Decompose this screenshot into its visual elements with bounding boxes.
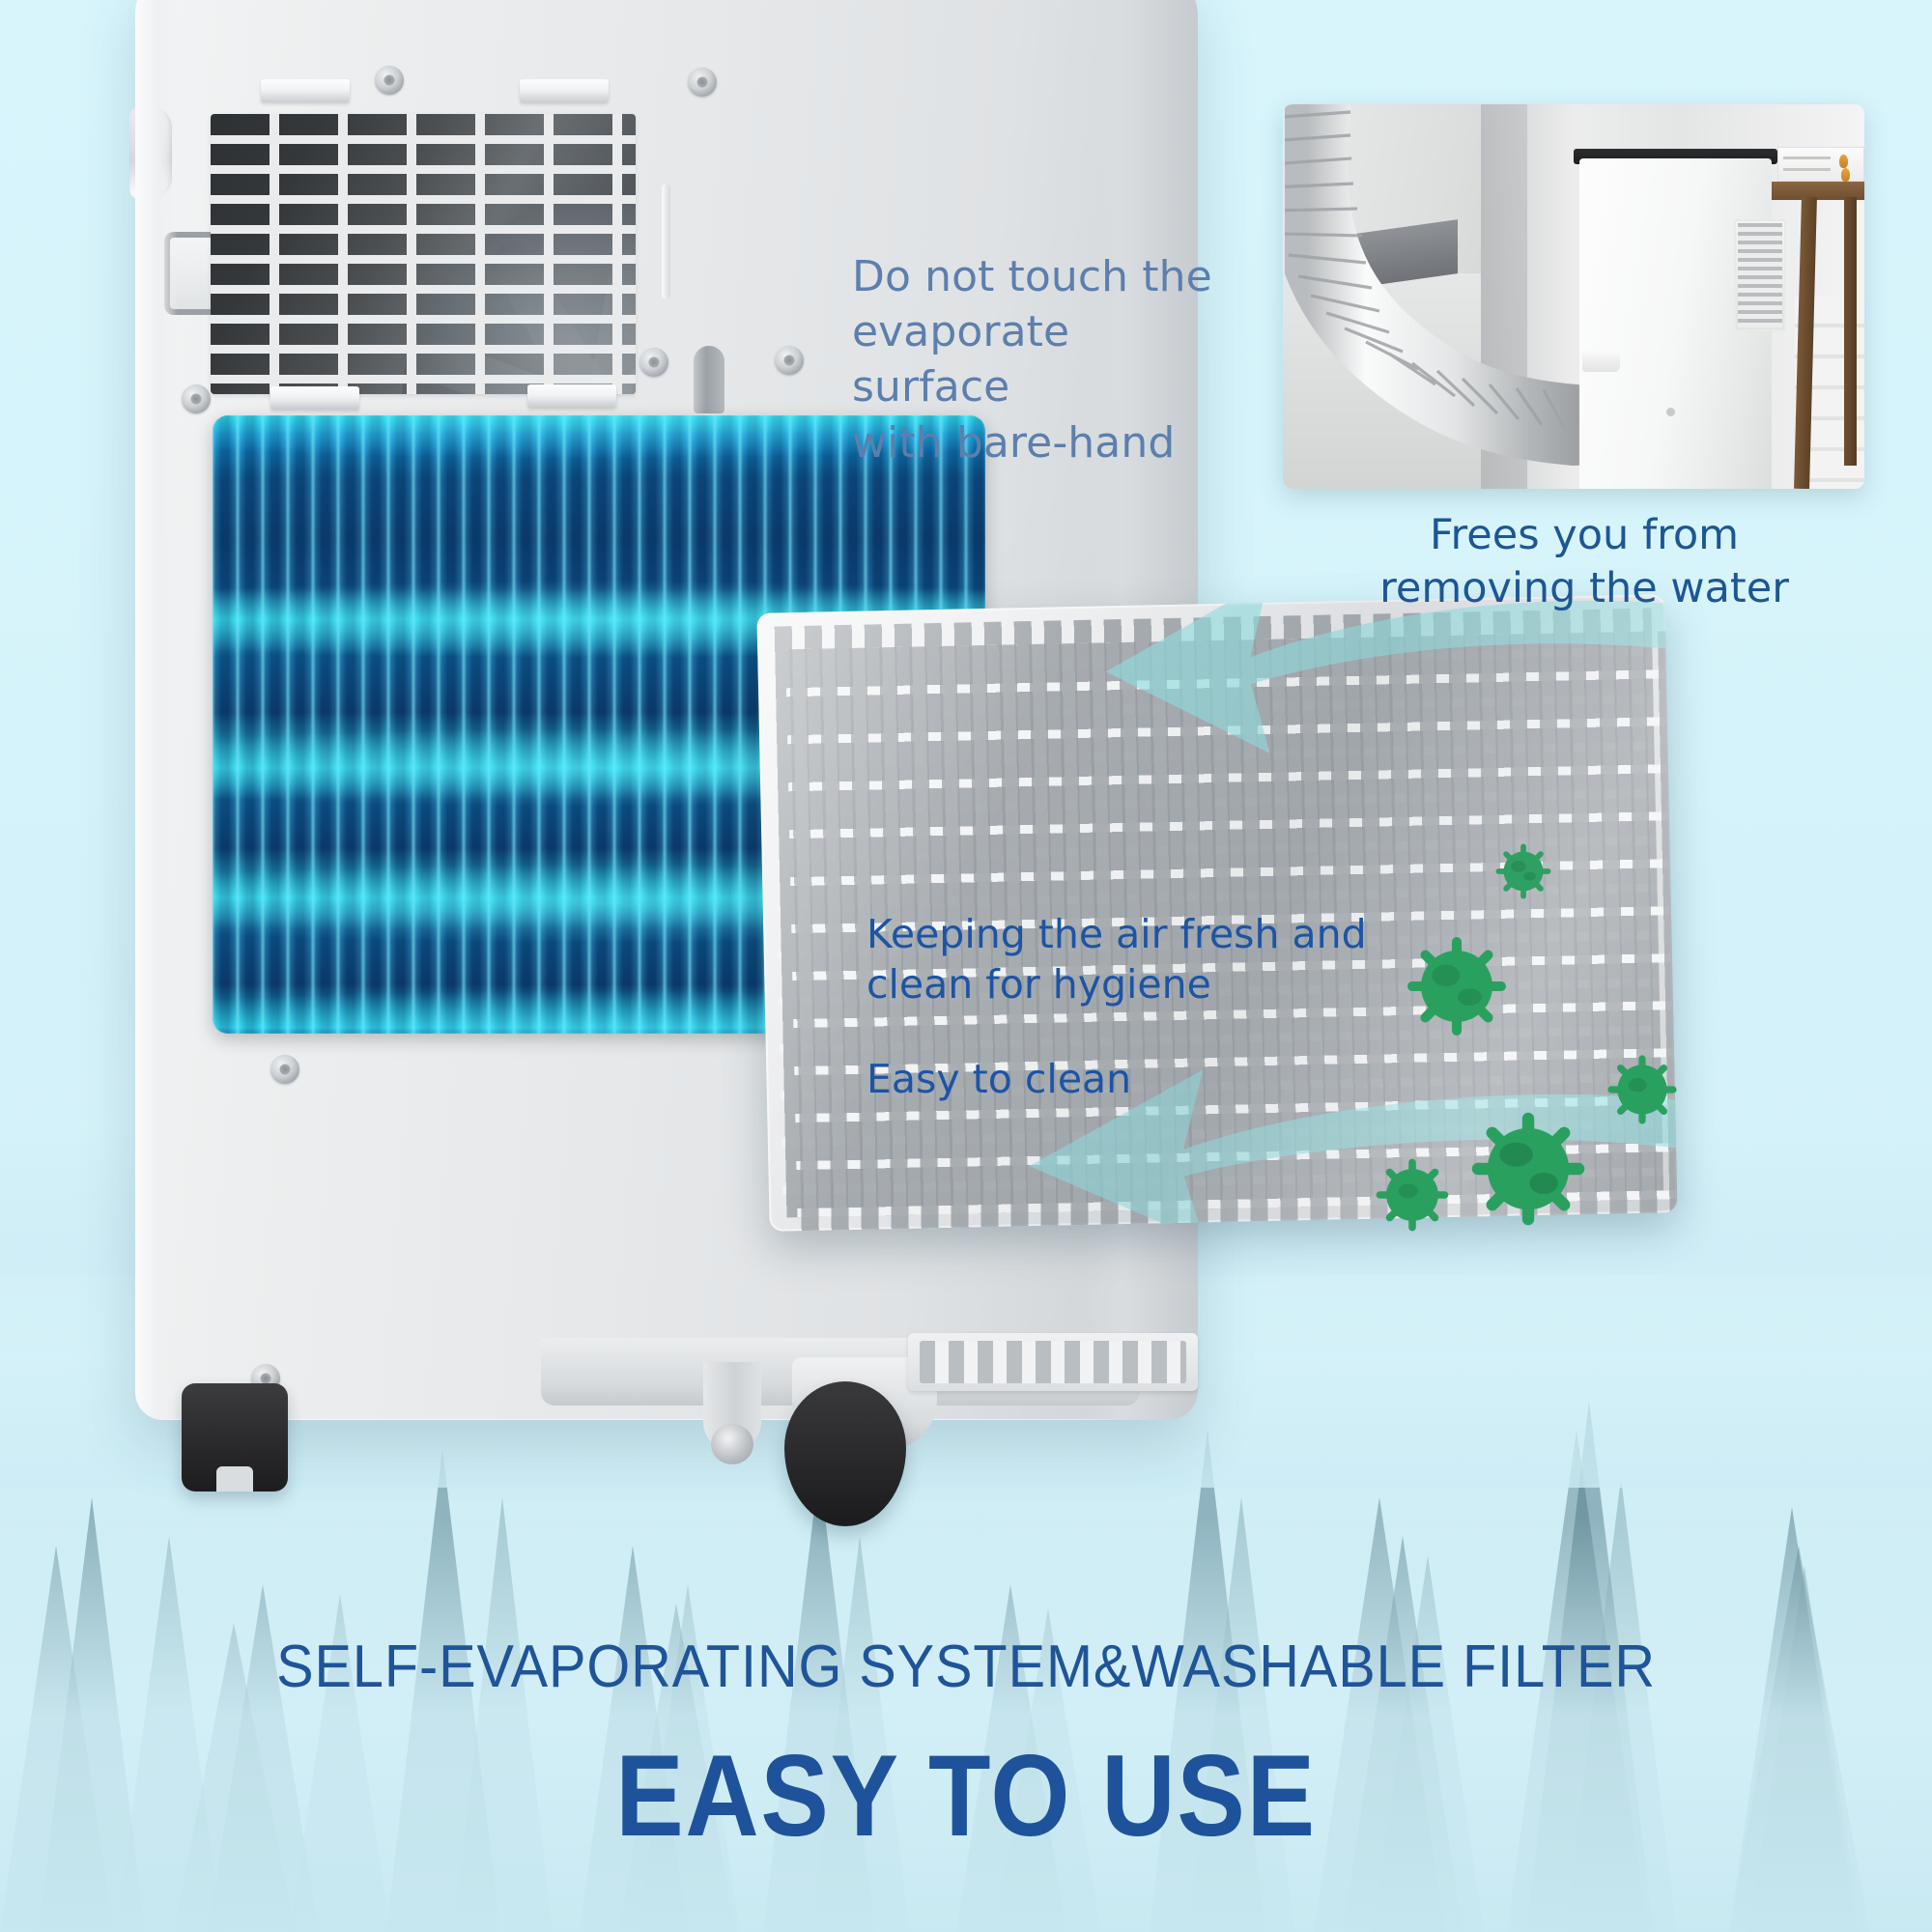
screw-mid-right [639,348,668,377]
drain-port [703,1362,761,1451]
inset-caption-line-2: removing the water [1352,562,1816,615]
warning-line-1: Do not touch the [852,249,1238,304]
evaporator-warning-text: Do not touch the evaporate surface with … [852,249,1238,470]
screw-top-right [688,68,717,97]
inset-caption-text: Frees you from removing the water [1352,509,1816,615]
caster-front-right [784,1381,906,1526]
condenser-grille [211,114,636,394]
product-feature-stage: Do not touch the evaporate surface with … [0,0,1932,1932]
headline-title: EASY TO USE [116,1729,1816,1862]
filter-benefit-text-1: Keeping the air fresh and clean for hygi… [867,910,1407,1009]
screw-bottom-left [270,1055,299,1084]
inset-ac-side-vent [1734,219,1786,330]
inset-caption-line-1: Frees you from [1352,509,1816,562]
benefit-2-line-1: Easy to clean [867,1055,1311,1105]
grille-clip-top-right [520,79,609,102]
inset-desk-shelf-items [1777,147,1864,182]
filter-benefit-text-2: Easy to clean [867,1055,1311,1105]
self-evaporating-inset-photo [1283,104,1864,489]
ground-fog [0,1517,1932,1932]
warning-line-3: with bare-hand [852,415,1238,470]
headline-subtitle: SELF-EVAPORATING SYSTEM&WASHABLE FILTER [68,1633,1864,1701]
vent-post [694,346,724,413]
benefit-1-line-1: Keeping the air fresh and [867,910,1407,960]
benefit-1-line-2: clean for hygiene [867,960,1407,1010]
grille-clip-bottom-left [270,386,359,410]
grille-vertical-bars [211,114,636,394]
side-handle[interactable] [129,106,172,199]
grille-clip-top-left [261,79,350,102]
inset-wall-shadow [1481,104,1574,489]
inset-desk-ornament-2 [1841,168,1850,182]
screw-top-center [375,66,404,95]
caster-front-left [182,1383,288,1492]
screw-mid-left [182,384,211,413]
inset-desk-ornament-1 [1839,155,1848,168]
lower-exhaust-vent [908,1333,1198,1391]
inset-desk-leg-back [1844,197,1857,467]
warning-line-2: evaporate surface [852,304,1238,414]
panel-seam-rail [662,184,670,299]
inset-window-sill [1283,273,1481,489]
inset-ac-handle [1582,351,1620,372]
screw-mid-right-2 [775,346,804,375]
grille-clip-bottom-right [527,384,616,408]
